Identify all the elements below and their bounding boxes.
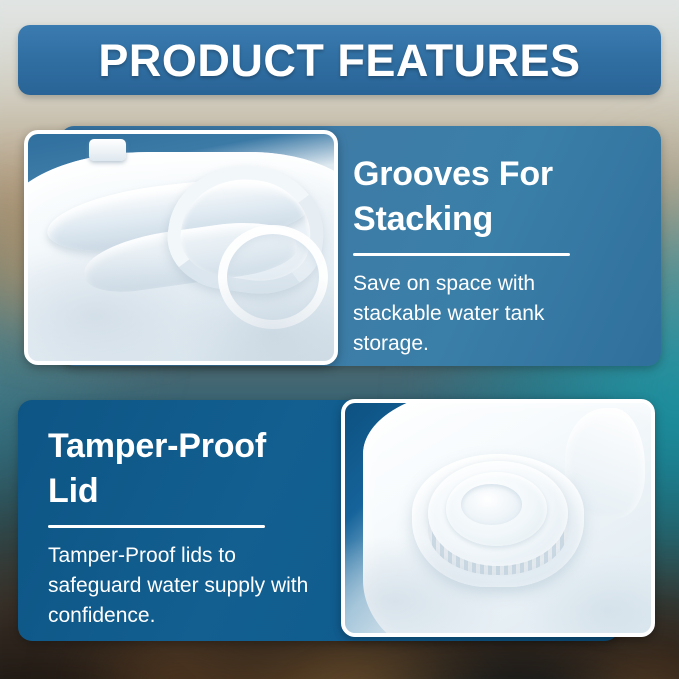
lid-photo-backdrop — [345, 403, 651, 633]
page-title: PRODUCT FEATURES — [98, 38, 580, 83]
feature-image-tamper-proof-lid — [341, 399, 655, 637]
lid-photo-shading — [345, 403, 651, 633]
feature-image-grooves-for-stacking — [24, 130, 338, 365]
tank-photo-backdrop — [28, 134, 334, 361]
feature-title: Grooves For Stacking — [353, 152, 613, 242]
feature-description: Tamper-Proof lids to safeguard water sup… — [48, 541, 313, 631]
feature-text-grooves-for-stacking: Grooves For Stacking Save on space with … — [353, 152, 613, 359]
feature-text-tamper-proof-lid: Tamper-Proof Lid Tamper-Proof lids to sa… — [48, 424, 313, 631]
feature-description: Save on space with stackable water tank … — [353, 269, 613, 359]
feature-title: Tamper-Proof Lid — [48, 424, 313, 514]
feature-divider — [48, 525, 265, 528]
tank-photo-shading — [28, 134, 334, 361]
product-features-infographic: PRODUCT FEATURES Grooves For Stacking Sa… — [0, 0, 679, 679]
header-banner: PRODUCT FEATURES — [18, 25, 661, 95]
feature-divider — [353, 253, 570, 256]
